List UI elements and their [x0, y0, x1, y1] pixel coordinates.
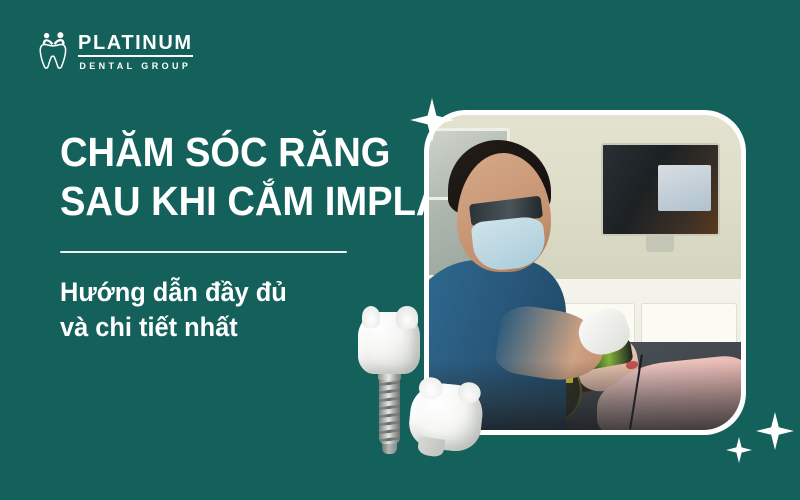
- subheadline-line-1: Hướng dẫn đầy đủ: [60, 275, 380, 310]
- banner-root: PLATINUM DENTAL GROUP CHĂM SÓC RĂNG SAU …: [0, 0, 800, 500]
- dental-crown-root: [417, 436, 445, 457]
- page-title: CHĂM SÓC RĂNG SAU KHI CẮM IMPLANT: [60, 128, 400, 226]
- dental-implant-3d-illustration: [352, 312, 488, 454]
- tooth-with-family-icon: [38, 32, 72, 72]
- sparkle-icon: [726, 437, 752, 463]
- implant-crown: [358, 312, 420, 374]
- logo-subtitle: DENTAL GROUP: [78, 60, 193, 72]
- subheadline-line-2: và chi tiết nhất: [60, 310, 380, 345]
- brand-logo[interactable]: PLATINUM DENTAL GROUP: [38, 30, 193, 74]
- headline-line-2: SAU KHI CẮM IMPLANT: [60, 177, 376, 226]
- title-divider: [60, 251, 347, 253]
- implant-screw: [379, 378, 400, 444]
- photo-monitor: [601, 143, 720, 235]
- logo-wordmark: PLATINUM DENTAL GROUP: [78, 33, 193, 72]
- page-subtitle: Hướng dẫn đầy đủ và chi tiết nhất: [60, 275, 400, 345]
- logo-name: PLATINUM: [78, 33, 193, 57]
- headline-line-1: CHĂM SÓC RĂNG: [60, 128, 376, 177]
- sparkle-icon: [756, 412, 794, 450]
